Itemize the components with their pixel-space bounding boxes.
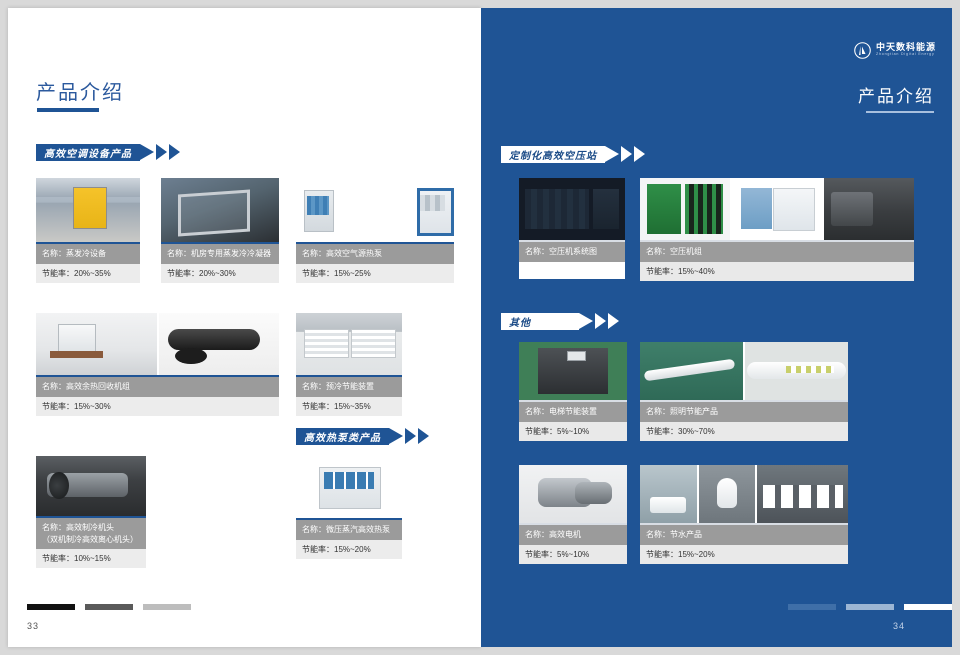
product-photo <box>36 178 140 242</box>
progress-bars-right <box>788 604 952 610</box>
card-efficiency: 节能率：15%~25% <box>296 264 454 283</box>
card-efficiency: 节能率：15%~40% <box>640 262 914 281</box>
card-efficiency: 节能率：15%~20% <box>640 545 848 564</box>
section-header-compressor: 定制化高效空压站 <box>501 146 645 163</box>
product-photo <box>296 178 374 242</box>
product-card[interactable]: 名称：微压蒸汽高效热泵 节能率：15%~20% <box>296 456 402 559</box>
product-photo <box>640 342 743 400</box>
card-name: 名称：节水产品 <box>640 523 848 545</box>
card-efficiency: 节能率：5%~10% <box>519 545 627 564</box>
arrow-tip-icon <box>140 144 154 160</box>
page-number-right: 34 <box>893 621 905 631</box>
card-name-line1: 名称：高效制冷机头 <box>42 522 140 534</box>
card-efficiency: 节能率：20%~35% <box>36 264 140 283</box>
product-card[interactable]: 名称：节水产品 节能率：15%~20% <box>640 465 848 564</box>
card-name: 名称：高效空气源热泵 <box>296 242 454 264</box>
product-photo <box>36 456 146 516</box>
product-card[interactable]: 名称：空压机系统图 <box>519 178 625 279</box>
product-photo <box>757 465 848 523</box>
title-underline-left <box>37 108 99 112</box>
page-title-left: 产品介绍 <box>36 76 124 105</box>
card-efficiency: 节能率：15%~20% <box>296 540 402 559</box>
product-photo <box>296 456 402 518</box>
chevron-right-icon <box>418 428 429 444</box>
card-name: 名称：高效余热回收机组 <box>36 375 279 397</box>
product-photo <box>745 342 848 400</box>
chevron-right-icon <box>634 146 645 162</box>
product-photo <box>161 178 279 242</box>
chevron-right-icon <box>595 313 606 329</box>
card-name: 名称：高效电机 <box>519 523 627 545</box>
section-header-others: 其他 <box>501 313 619 330</box>
card-efficiency: 节能率：15%~35% <box>296 397 402 416</box>
card-name: 名称：空压机组 <box>640 240 914 262</box>
product-photo <box>640 178 730 240</box>
card-images <box>36 313 279 375</box>
card-efficiency: 节能率：5%~10% <box>519 422 627 441</box>
card-name: 名称：蒸发冷设备 <box>36 242 140 264</box>
card-images <box>296 313 402 375</box>
card-name: 名称：照明节能产品 <box>640 400 848 422</box>
card-efficiency: 节能率：20%~30% <box>161 264 279 283</box>
product-photo <box>519 465 627 523</box>
right-page: 中天数科能源 Zhongtian Digital Energy 产品介绍 定制化… <box>481 8 952 647</box>
arrow-tip-icon <box>389 428 403 444</box>
card-images <box>519 465 627 523</box>
product-photo <box>296 313 402 375</box>
brand-name-cn: 中天数科能源 <box>876 43 936 52</box>
progress-bar-segment <box>143 604 191 610</box>
card-name: 名称：机房专用蒸发冷冷凝器 <box>161 242 279 264</box>
brand-name-en: Zhongtian Digital Energy <box>876 52 936 58</box>
progress-bars-left <box>27 604 191 610</box>
product-card[interactable]: 名称：高效空气源热泵 节能率：15%~25% <box>296 178 454 283</box>
page-number-left: 33 <box>27 621 39 631</box>
product-card[interactable]: 名称：照明节能产品 节能率：30%~70% <box>640 342 848 441</box>
slide-spread: 产品介绍 高效空调设备产品 名称：蒸发冷设备 节能率：20%~35% 名称：机房… <box>0 0 960 655</box>
section-label: 其他 <box>501 313 579 330</box>
card-images <box>296 456 402 518</box>
product-photo <box>519 178 625 240</box>
section-header-hvac: 高效空调设备产品 <box>36 144 180 161</box>
brand-logo: 中天数科能源 Zhongtian Digital Energy <box>854 42 936 59</box>
card-name: 名称：电梯节能装置 <box>519 400 627 422</box>
card-efficiency: 节能率：30%~70% <box>640 422 848 441</box>
product-card[interactable]: 名称：电梯节能装置 节能率：5%~10% <box>519 342 627 441</box>
card-name: 名称：高效制冷机头 （双机制冷高效离心机头） <box>36 516 146 549</box>
chevron-right-icon <box>169 144 180 160</box>
product-photo <box>36 313 157 375</box>
card-images <box>519 342 627 400</box>
page-title-right: 产品介绍 <box>858 82 934 107</box>
card-images <box>296 178 454 242</box>
progress-bar-segment <box>846 604 894 610</box>
product-photo <box>519 342 627 400</box>
card-efficiency: 节能率：15%~30% <box>36 397 279 416</box>
brand-text: 中天数科能源 Zhongtian Digital Energy <box>876 43 936 58</box>
product-photo <box>732 178 822 240</box>
progress-bar-segment <box>85 604 133 610</box>
card-images <box>36 178 140 242</box>
progress-bar-segment <box>788 604 836 610</box>
card-images <box>36 456 146 516</box>
progress-bar-segment <box>904 604 952 610</box>
section-label: 高效热泵类产品 <box>296 428 389 445</box>
chevron-right-icon <box>621 146 632 162</box>
card-efficiency: 节能率：10%~15% <box>36 549 146 568</box>
product-card[interactable]: 名称：预冷节能装置 节能率：15%~35% <box>296 313 402 416</box>
product-photo <box>699 465 756 523</box>
section-label: 高效空调设备产品 <box>36 144 140 161</box>
product-card[interactable]: 名称：空压机组 节能率：15%~40% <box>640 178 914 281</box>
left-page: 产品介绍 高效空调设备产品 名称：蒸发冷设备 节能率：20%~35% 名称：机房… <box>8 8 481 647</box>
card-images <box>640 342 848 400</box>
arrow-tip-icon <box>579 313 593 329</box>
chevron-right-icon <box>405 428 416 444</box>
card-name: 名称：空压机系统图 <box>519 240 625 262</box>
card-images <box>519 178 625 240</box>
product-card[interactable]: 名称：蒸发冷设备 节能率：20%~35% <box>36 178 140 283</box>
product-card[interactable]: 名称：高效制冷机头 （双机制冷高效离心机头） 节能率：10%~15% <box>36 456 146 568</box>
product-photo <box>376 178 454 242</box>
card-name-line2: （双机制冷高效离心机头） <box>42 534 140 546</box>
section-label: 定制化高效空压站 <box>501 146 605 163</box>
card-name: 名称：预冷节能装置 <box>296 375 402 397</box>
chevron-right-icon <box>608 313 619 329</box>
progress-bar-segment <box>27 604 75 610</box>
product-card[interactable]: 名称：高效电机 节能率：5%~10% <box>519 465 627 564</box>
section-header-heatpump: 高效热泵类产品 <box>296 428 429 445</box>
product-photo <box>640 465 697 523</box>
product-photo <box>824 178 914 240</box>
arrow-tip-icon <box>605 146 619 162</box>
circle-sail-logo-icon <box>854 42 871 59</box>
card-images <box>161 178 279 242</box>
card-images <box>640 178 914 240</box>
card-name: 名称：微压蒸汽高效热泵 <box>296 518 402 540</box>
product-photo <box>159 313 280 375</box>
card-efficiency <box>519 262 625 279</box>
card-images <box>640 465 848 523</box>
title-underline-right <box>866 111 934 113</box>
product-card[interactable]: 名称：高效余热回收机组 节能率：15%~30% <box>36 313 279 416</box>
product-card[interactable]: 名称：机房专用蒸发冷冷凝器 节能率：20%~30% <box>161 178 279 283</box>
chevron-right-icon <box>156 144 167 160</box>
